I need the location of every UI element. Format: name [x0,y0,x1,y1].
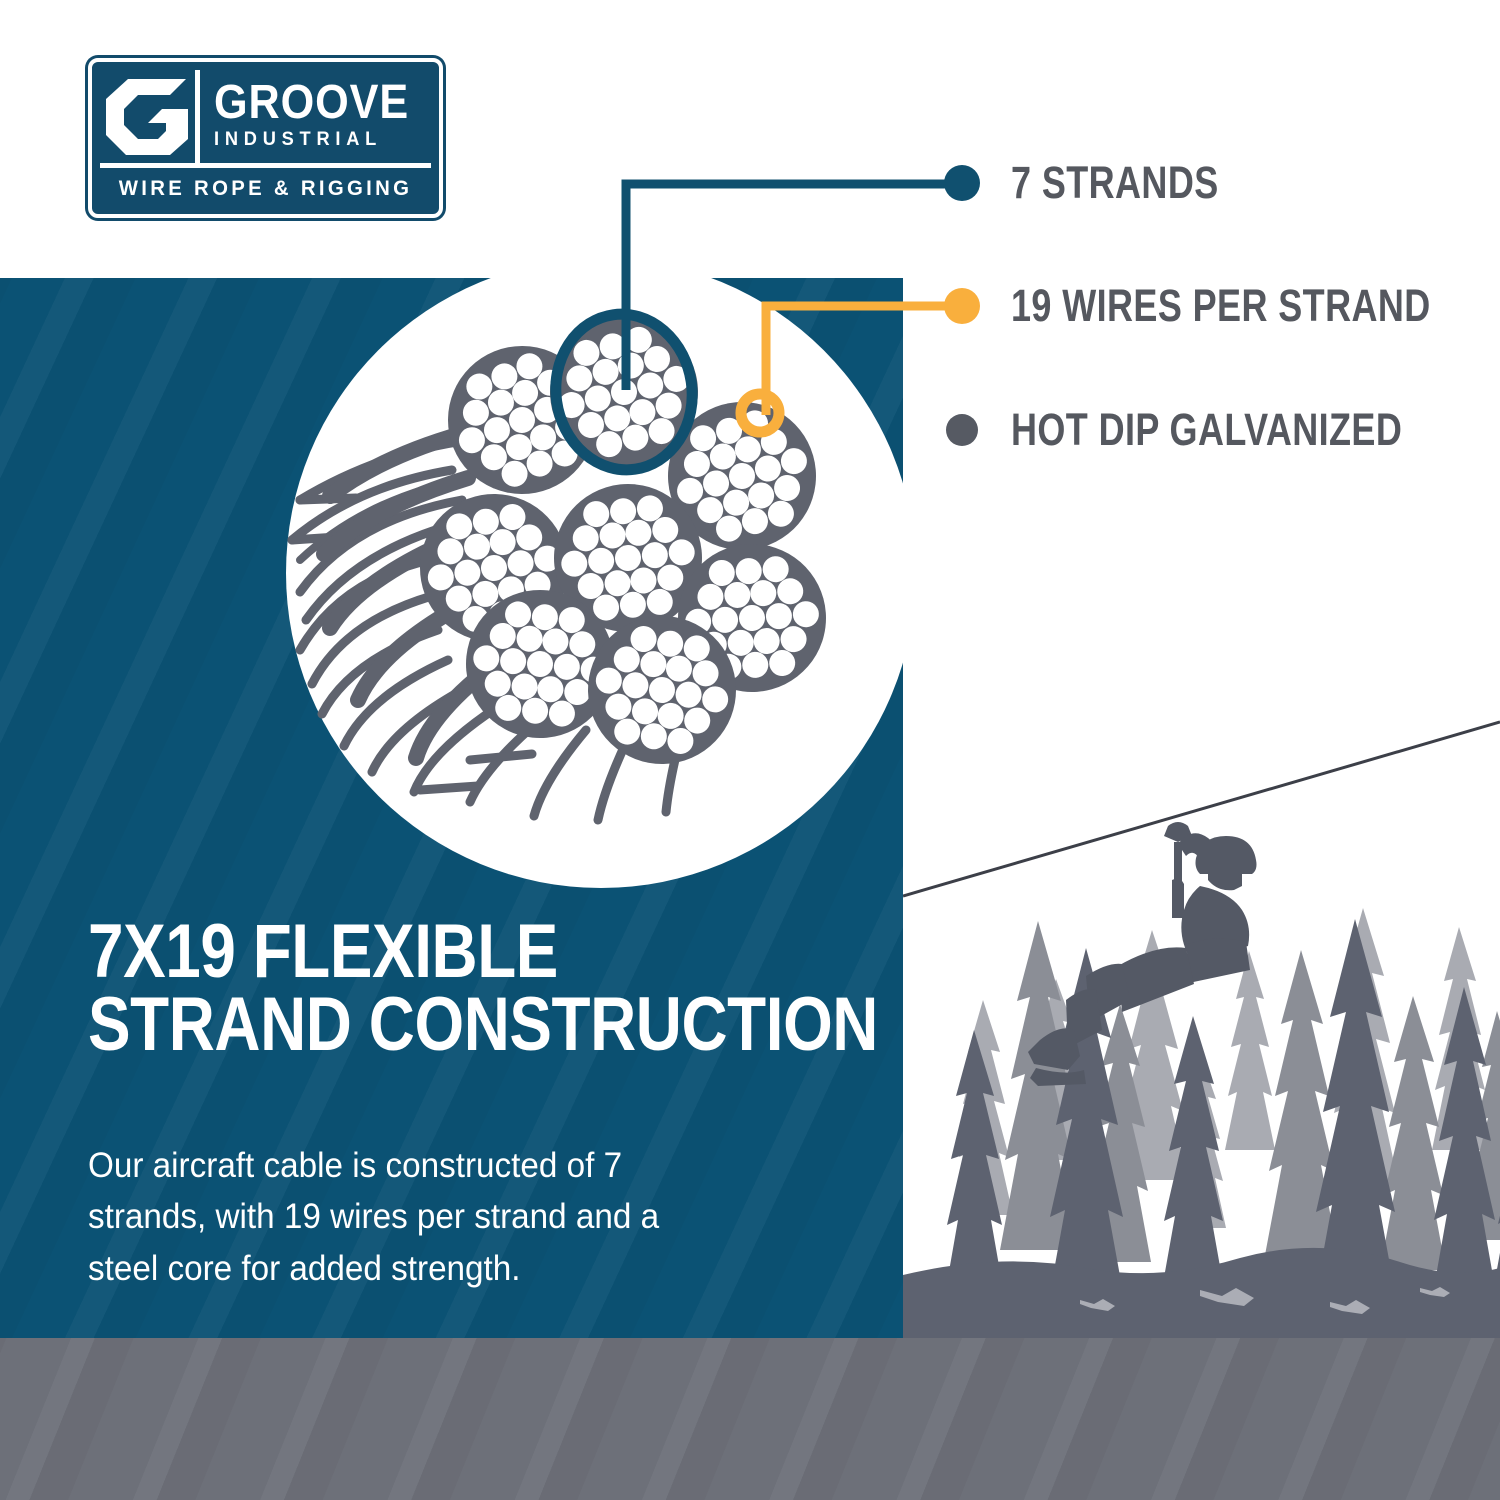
ground-flecks [1080,1287,1450,1314]
logo-name: GROOVE [214,82,409,124]
callout-dot-orange [944,288,980,324]
callout-wires-per-strand: 19 WIRES PER STRAND [944,283,1500,328]
logo-top-row: GROOVE INDUSTRIAL [100,70,431,168]
callout-hot-dip-galvanized: HOT DIP GALVANIZED [946,407,1500,452]
callout-label: 19 WIRES PER STRAND [1011,283,1431,328]
logo-wordmark: GROOVE INDUSTRIAL [200,70,431,163]
body-paragraph: Our aircraft cable is constructed of 7 s… [88,1140,734,1294]
pine-tree-silhouettes [944,919,1500,1325]
page-title: 7X19 FLEXIBLE STRAND CONSTRUCTION [88,916,752,1062]
callout-dot-blue [944,165,980,201]
callout-strands: 7 STRANDS [944,160,1271,205]
callout-label: 7 STRANDS [1011,160,1219,205]
callout-dot-gray [946,414,978,446]
pine-tree-silhouettes [1000,921,1500,1270]
leader-line-wires [758,300,964,415]
brand-logo[interactable]: GROOVE INDUSTRIAL WIRE ROPE & RIGGING [88,58,443,218]
infographic-canvas: 7 STRANDS 19 WIRES PER STRAND HOT DIP GA… [0,0,1500,1500]
headline-line-2: STRAND CONSTRUCTION [88,989,752,1062]
pine-tree-silhouettes [955,908,1488,1228]
band-stripe-texture [0,1338,1500,1500]
bottom-gray-band [0,1338,1500,1500]
logo-subtitle: INDUSTRIAL [214,129,422,151]
groove-g-mark-icon [100,70,200,163]
headline-line-1: 7X19 FLEXIBLE [88,916,752,989]
zipline-cable [903,722,1500,896]
callout-label: HOT DIP GALVANIZED [1011,407,1402,452]
logo-tagline: WIRE ROPE & RIGGING [105,168,426,210]
forest-ground [903,1248,1500,1338]
zipline-rider [1028,822,1257,1086]
